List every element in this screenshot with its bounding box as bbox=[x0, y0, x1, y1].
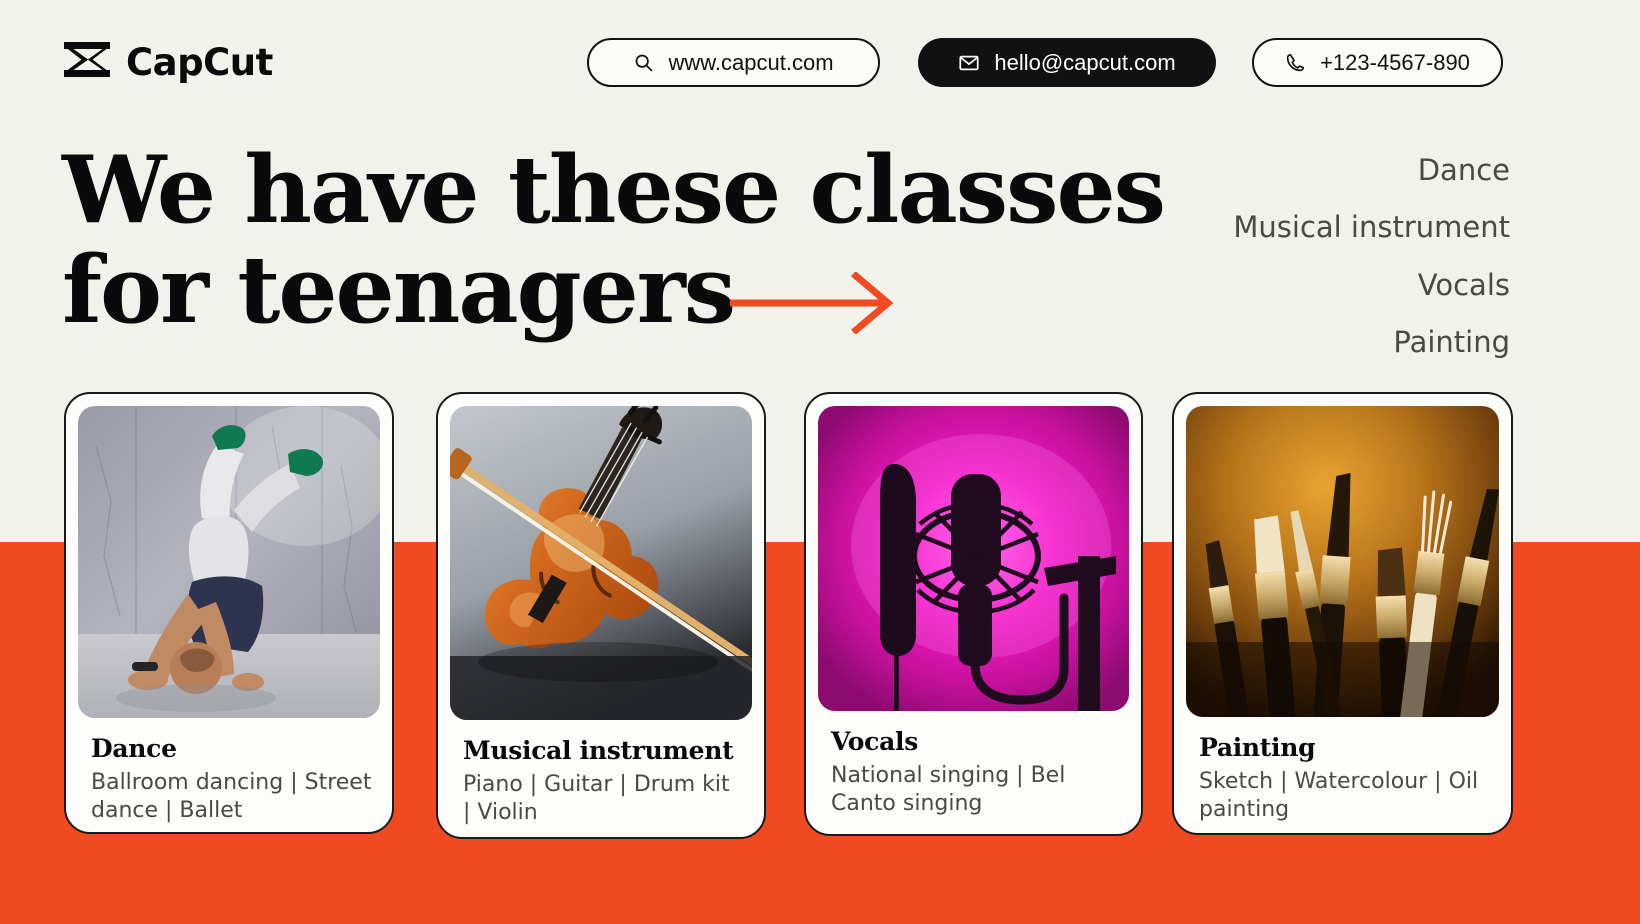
class-card-title: Vocals bbox=[831, 727, 1129, 756]
capcut-logo-icon bbox=[62, 38, 112, 86]
phone-icon bbox=[1285, 52, 1306, 73]
class-card-dance[interactable]: Dance Ballroom dancing | Street dance | … bbox=[64, 392, 394, 834]
class-card-description: Ballroom dancing | Street dance | Ballet bbox=[91, 769, 372, 824]
brand-logo[interactable]: CapCut bbox=[62, 38, 273, 86]
class-card-description: Sketch | Watercolour | Oil painting bbox=[1199, 768, 1491, 823]
paintbrushes-illustration bbox=[1186, 406, 1499, 717]
class-card-description: National singing | Bel Canto singing bbox=[831, 762, 1121, 817]
contact-pill-website-label: www.capcut.com bbox=[668, 50, 833, 76]
microphone-illustration bbox=[818, 406, 1129, 711]
contact-pill-website[interactable]: www.capcut.com bbox=[587, 38, 880, 87]
violin-illustration bbox=[450, 406, 752, 720]
class-card-grid: Dance Ballroom dancing | Street dance | … bbox=[0, 392, 1640, 852]
class-card-title: Musical instrument bbox=[463, 736, 752, 765]
category-item-dance[interactable]: Dance bbox=[1090, 142, 1510, 199]
category-item-painting[interactable]: Painting bbox=[1090, 314, 1510, 371]
category-item-musical-instrument[interactable]: Musical instrument bbox=[1090, 199, 1510, 256]
contact-pill-email[interactable]: hello@capcut.com bbox=[918, 38, 1216, 87]
category-item-vocals[interactable]: Vocals bbox=[1090, 257, 1510, 314]
search-icon bbox=[633, 52, 654, 73]
page-title: We have these classes for teenagers bbox=[62, 140, 1172, 339]
class-card-musical-instrument[interactable]: Musical instrument Piano | Guitar | Drum… bbox=[436, 392, 766, 839]
contact-pill-phone[interactable]: +123-4567-890 bbox=[1252, 38, 1503, 87]
contact-pill-email-label: hello@capcut.com bbox=[994, 50, 1175, 76]
class-card-painting[interactable]: Painting Sketch | Watercolour | Oil pain… bbox=[1172, 392, 1513, 835]
header: CapCut www.capcut.com hello@capcut.com +… bbox=[0, 0, 1640, 120]
studio-microphone-photo bbox=[818, 406, 1129, 711]
paintbrushes-photo bbox=[1186, 406, 1499, 717]
brand-wordmark: CapCut bbox=[126, 41, 273, 84]
breakdancer-illustration bbox=[78, 406, 380, 718]
category-list: Dance Musical instrument Vocals Painting bbox=[1090, 142, 1510, 372]
contact-pill-phone-label: +123-4567-890 bbox=[1320, 50, 1470, 76]
violin-photo bbox=[450, 406, 752, 720]
class-card-vocals[interactable]: Vocals National singing | Bel Canto sing… bbox=[804, 392, 1143, 836]
envelope-icon bbox=[958, 52, 980, 74]
class-card-description: Piano | Guitar | Drum kit | Violin bbox=[463, 771, 744, 826]
breakdancer-photo bbox=[78, 406, 380, 718]
headline-line-1: We have these classes bbox=[62, 140, 1172, 240]
class-card-title: Painting bbox=[1199, 733, 1499, 762]
class-card-title: Dance bbox=[91, 734, 380, 763]
headline-line-2: for teenagers bbox=[62, 240, 1172, 340]
arrow-right-icon[interactable] bbox=[728, 272, 898, 334]
